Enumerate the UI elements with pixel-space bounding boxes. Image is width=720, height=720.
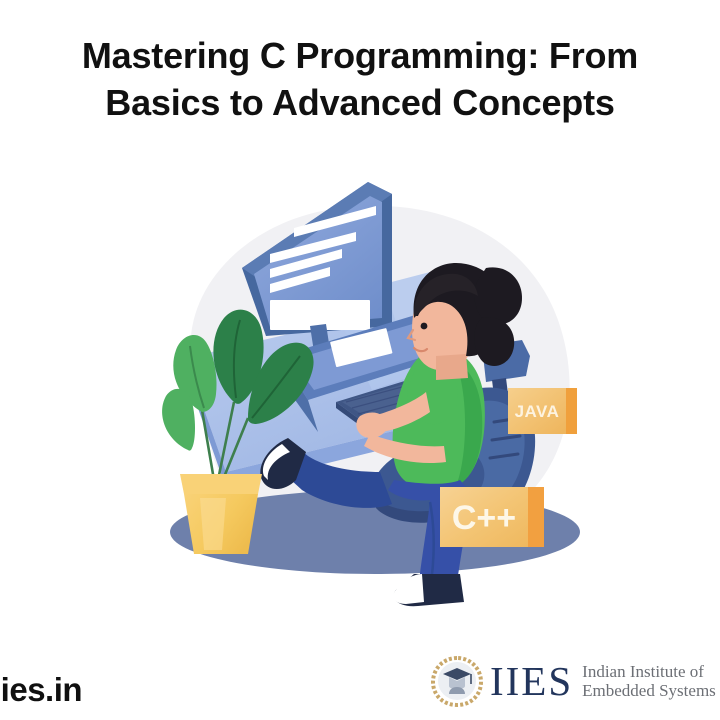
shoe-front-toe — [393, 574, 424, 604]
cpp-block-label: C++ — [452, 499, 516, 537]
iies-full-name: Indian Institute of Embedded Systems — [582, 662, 716, 700]
page-title: Mastering C Programming: From Basics to … — [0, 32, 720, 126]
leaf-small-left — [162, 389, 195, 451]
site-url-text: iies.in — [0, 672, 82, 708]
footer: iies.in IIES Indian Institute of Embedde… — [0, 630, 720, 720]
iies-crest-emblem-icon — [430, 654, 484, 708]
iies-name-line-1: Indian Institute of — [582, 662, 716, 681]
plant-pot-highlight — [200, 498, 226, 550]
hand — [356, 413, 387, 438]
cpp-block-side — [528, 487, 544, 547]
illustration-canvas: JAVA C++ — [130, 150, 600, 620]
java-block-label: JAVA — [515, 402, 560, 421]
eye — [421, 323, 428, 330]
iies-brand-logo: IIES Indian Institute of Embedded System… — [430, 650, 720, 712]
page-title-line-1: Mastering C Programming: From — [0, 32, 720, 79]
cpp-code-block: C++ — [440, 487, 544, 547]
programmer-illustration: JAVA C++ — [130, 150, 600, 620]
page-title-line-2: Basics to Advanced Concepts — [0, 79, 720, 126]
java-block-side — [566, 388, 577, 434]
java-code-block: JAVA — [508, 388, 577, 434]
iies-acronym: IIES — [490, 659, 573, 703]
monitor — [242, 182, 392, 352]
neck — [436, 354, 468, 380]
iies-name-line-2: Embedded Systems — [582, 681, 716, 700]
plant-pot-rim — [180, 474, 262, 494]
